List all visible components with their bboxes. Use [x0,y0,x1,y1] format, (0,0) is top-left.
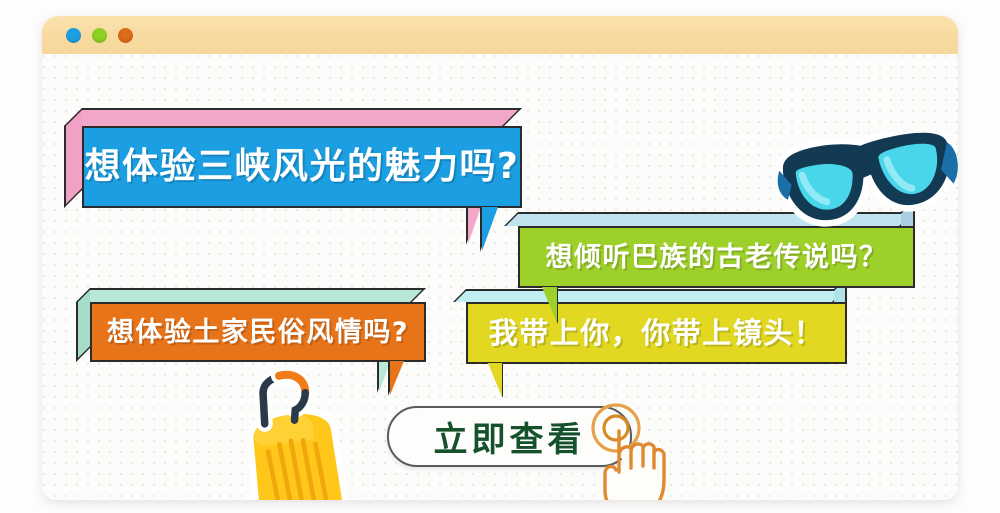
bubble-3-slab-top [76,288,426,302]
bubble-1-text: 想体验三峡风光的魅力吗? [85,149,520,185]
bubble-1-slab-side [64,108,82,208]
bubble-4-slab-top [453,289,847,302]
speech-bubble-3: 想体验土家民俗风情吗? [90,302,426,362]
traffic-light-green-icon[interactable] [92,28,107,43]
speech-bubble-1: 想体验三峡风光的魅力吗? [82,126,522,208]
hand-cursor-icon [579,398,691,500]
bubble-4-tail [488,363,502,397]
suitcase-icon [224,370,374,500]
bubble-1-body: 想体验三峡风光的魅力吗? [82,126,522,208]
bubble-2-tail [542,287,557,323]
bubble-1-tail [482,207,498,251]
bubble-4-body: 我带上你，你带上镜头！ [466,302,847,364]
browser-window: 想体验三峡风光的魅力吗? 想倾听巴族的古老传说吗？ 想体验土家民俗风情吗? [42,16,958,500]
window-controls [66,28,133,43]
traffic-light-blue-icon[interactable] [66,28,81,43]
window-title-bar [42,16,958,54]
poster-stage: 想体验三峡风光的魅力吗? 想倾听巴族的古老传说吗？ 想体验土家民俗风情吗? [0,0,1000,513]
bubble-3-body: 想体验土家民俗风情吗? [90,302,426,362]
bubble-1-tail-shadow [468,204,482,244]
view-now-label: 立即查看 [434,412,586,461]
bubble-3-tail [390,361,404,395]
window-content: 想体验三峡风光的魅力吗? 想倾听巴族的古老传说吗？ 想体验土家民俗风情吗? [42,54,958,500]
speech-bubble-4: 我带上你，你带上镜头！ [466,302,847,364]
bubble-1-slab-top [64,108,522,126]
sunglasses-icon [777,132,958,246]
traffic-light-orange-icon[interactable] [118,28,133,43]
bubble-3-text: 想体验土家民俗风情吗? [107,319,409,346]
bubble-4-text: 我带上你，你带上镜头！ [489,319,825,348]
bubble-2-text: 想倾听巴族的古老传说吗？ [546,244,888,271]
bubble-3-slab-side [76,288,90,362]
